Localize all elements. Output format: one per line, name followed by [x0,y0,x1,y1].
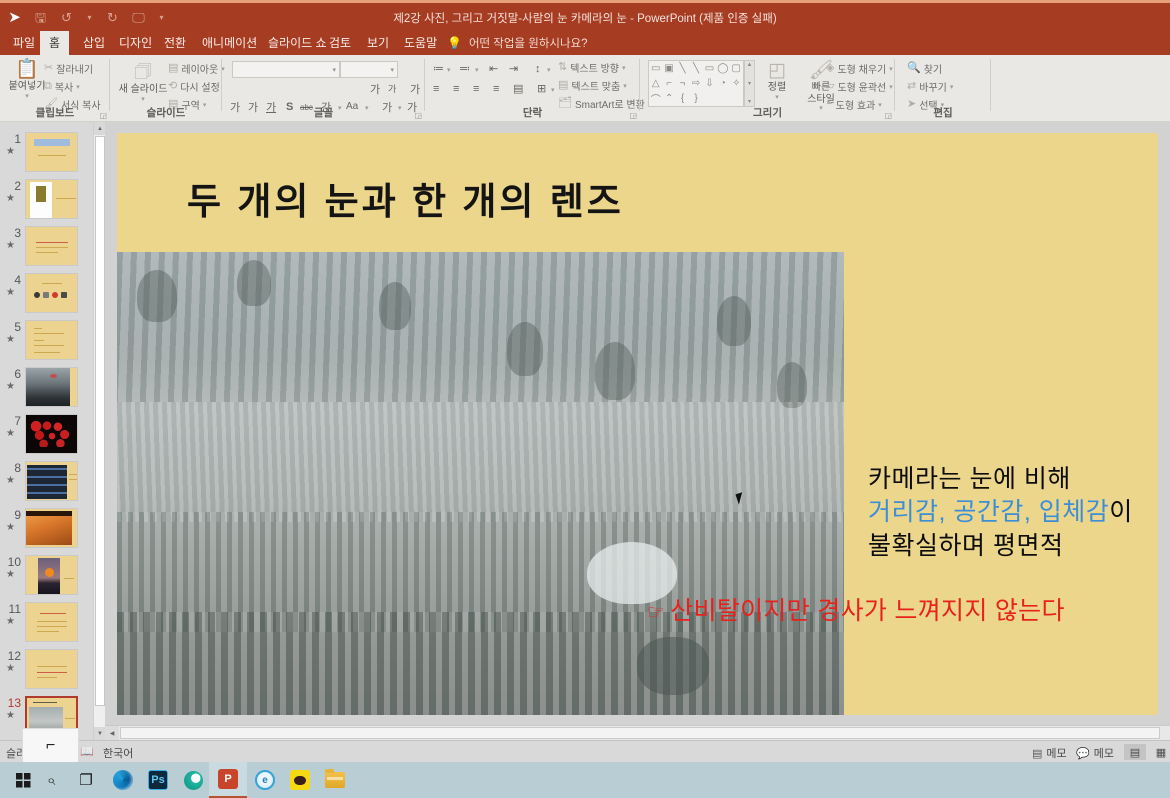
ribbon-group-editing: 🔍 찾기 ⇄ 바꾸기 ▾ ➤ 선택 ▾ 편집 [895,55,991,122]
align-right-button[interactable]: ≡ [473,81,479,96]
title-bar: ➤ 🖫 ↺ ▾ ↻ 🖵 ▾ 제2강 사진, 그리고 거짓말-사람의 눈 카메라의… [0,0,1170,31]
paragraph-dialog-launcher[interactable]: ◲ [629,111,637,120]
clipboard-dialog-launcher[interactable]: ◲ [99,111,107,120]
window-title: 제2강 사진, 그리고 거짓말-사람의 눈 카메라의 눈 - PowerPoin… [0,10,1170,26]
body-line-2-tail: 이 [1109,498,1133,526]
find-button[interactable]: 🔍 찾기 [907,61,942,76]
arrange-icon: ◰ [768,61,786,80]
font-dialog-launcher[interactable]: ◲ [414,111,422,120]
replace-button[interactable]: ⇄ 바꾸기 ▾ [907,79,953,94]
copy-icon: ⧉ [44,81,52,92]
notes-icon: ▤ [1032,747,1042,760]
reset-icon: ⟲ [168,81,177,92]
reset-button[interactable]: ⟲ 다시 설정 [168,79,220,94]
notes-button[interactable]: ▤ 메모 [1032,745,1067,761]
animation-star-icon: ★ [6,616,15,627]
shape-outline-icon: ▱ [826,81,834,92]
group-label-slides: 슬라이드 [110,105,222,120]
ribbon-group-font: ▾ ▾ 가 가 가 가 가 가 S abc 간 ▾ Aa ▾ 가 ▾ 가 글꼴 … [222,55,425,122]
ribbon-group-paragraph: ≔ ▾ ≕ ▾ ⇤ ⇥ ↕ ▾ ≡ ≡ ≡ ≡ ▤ ⊞ ▾ ⇅ 텍스트 방향 ▾… [425,55,640,122]
justify-button[interactable]: ≡ [493,81,499,96]
thumbnail-number: 4 [2,273,21,287]
tab-design[interactable]: 디자인 [110,31,161,55]
status-bar: 슬라이드 13/33 📖 한국어 ▤ 메모 💬 메모 ▤ ▦ [0,740,1170,762]
new-slide-icon: 🗇 [134,63,152,82]
align-left-button[interactable]: ≡ [433,81,439,96]
body-line-1: 카메라는 눈에 비해 [868,463,1158,496]
thumbnail-number: 13 [2,696,21,710]
group-label-drawing: 그리기 [640,105,895,120]
thumbnail-number: 7 [2,414,21,428]
shape-item[interactable]: △ [652,78,660,89]
thumbnail-image[interactable] [25,414,78,454]
thumbnail-image[interactable] [25,367,78,407]
thumbnail-image[interactable] [25,461,78,501]
thumbnail-number: 8 [2,461,21,475]
taskbar: ⌕ ❐ Ps P e [0,762,1170,798]
shape-item[interactable]: ▢ [732,63,741,74]
animation-star-icon: ★ [6,710,15,721]
app-teal-button[interactable] [174,762,212,798]
photoshop-icon: Ps [148,770,168,790]
shape-item[interactable]: ⌃ [665,93,673,104]
scrollbar-thumb[interactable] [95,136,105,706]
thumbnail-number: 1 [2,132,21,146]
shape-item[interactable]: ╲ [693,63,699,74]
distribute-button[interactable]: ▤ [513,81,523,96]
ribbon-tab-bar: 파일 홈 삽입 디자인 전환 애니메이션 슬라이드 쇼 검토 보기 도움말 💡 … [0,31,1170,55]
text-direction-button[interactable]: ⇅ 텍스트 방향 ▾ [558,60,626,75]
callout-label: 산비탈이지만 경사가 느껴지지 않는다 [670,597,1065,625]
comment-icon: 💬 [1076,747,1090,760]
edge-icon [113,770,133,790]
tab-home[interactable]: 홈 [40,31,69,55]
columns-button[interactable]: ⊞ [537,81,546,96]
tell-me-box[interactable]: 💡 어떤 작업을 원하시나요? [447,31,588,55]
thumbnail-image[interactable] [25,273,78,313]
internet-explorer-button[interactable]: e [246,762,284,798]
shape-outline-button[interactable]: ▱ 도형 윤곽선 ▾ [826,79,893,94]
search-icon: ⌕ [47,772,55,789]
group-label-clipboard: 클립보드 [0,105,110,120]
slide-sorter-button[interactable]: ▦ [1150,744,1170,760]
thumbnail-image[interactable] [25,132,78,172]
pointing-hand-icon: ☞ [647,602,665,624]
comments-button[interactable]: 💬 메모 [1076,745,1114,761]
thumbnail-image[interactable] [25,649,78,689]
slide-photo-snow-forest[interactable] [117,252,844,715]
scroll-down-icon[interactable]: ▼ [94,727,105,740]
font-size-input[interactable]: ▾ [340,61,398,78]
spellcheck-icon[interactable]: 📖 [80,745,94,758]
shape-item[interactable]: { [681,93,684,104]
slide-thumbnail-pane[interactable]: 1 ★ 2 ★ 3 ★ 4 [0,122,105,740]
body-line-2-blue: 거리감, 공간감, 입체감 [868,498,1109,526]
scroll-more-icon[interactable]: ▾ [748,80,751,87]
shape-item[interactable]: ⇨ [692,78,700,89]
search-button[interactable]: ⌕ [32,762,70,798]
shape-fill-button[interactable]: ◈ 도형 채우기 ▾ [826,61,893,76]
ribbon: 📋 붙여넣기 ▾ ✂ 잘라내기 ⧉ 복사 ▾ 🖌 서식 복사 클립보드 ◲ [0,55,1170,122]
scroll-down-icon[interactable]: ▾ [748,98,751,105]
increase-indent-button[interactable]: ⇥ [509,61,518,76]
animation-star-icon: ★ [6,193,15,204]
thumbnail-number: 6 [2,367,21,381]
clear-formatting-button[interactable]: 가 [410,81,420,96]
slide-callout-text[interactable]: ☞산비탈이지만 경사가 느껴지지 않는다 [647,591,1147,627]
animation-star-icon: ★ [6,240,15,251]
decrease-indent-button[interactable]: ⇤ [489,61,498,76]
ribbon-group-slides: 🗇 새 슬라이드 ▾ ▤ 레이아웃 ▾ ⟲ 다시 설정 ▤ 구역 ▾ 슬라이드 [110,55,222,122]
animation-star-icon: ★ [6,146,15,157]
drawing-dialog-launcher[interactable]: ◲ [884,111,892,120]
thumbnail-number: 10 [2,555,21,569]
teal-circle-icon [184,771,203,790]
group-separator [990,59,991,111]
layout-button[interactable]: ▤ 레이아웃 ▾ [168,61,225,76]
tab-view[interactable]: 보기 [358,31,398,55]
tab-review[interactable]: 검토 [320,31,360,55]
powerpoint-button[interactable]: P [209,762,247,798]
thumbnail-image[interactable] [25,602,78,642]
file-explorer-button[interactable] [316,762,354,798]
tell-me-placeholder: 어떤 작업을 원하시나요? [469,35,588,51]
ribbon-group-clipboard: 📋 붙여넣기 ▾ ✂ 잘라내기 ⧉ 복사 ▾ 🖌 서식 복사 클립보드 ◲ [0,55,110,122]
status-tooltip: ⌐ [22,728,79,764]
scroll-left-icon[interactable]: ◀ [105,726,119,740]
shape-item[interactable]: ▭ [651,63,660,74]
tab-insert[interactable]: 삽입 [74,31,114,55]
shape-item[interactable]: ⌐ [666,78,672,89]
animation-star-icon: ★ [6,522,15,533]
tab-transitions[interactable]: 전환 [155,31,195,55]
grow-font-button[interactable]: 가 [370,81,380,96]
shapes-scrollbar[interactable]: ▲ ▾ ▾ [744,60,755,107]
thumbnail-image[interactable] [25,320,78,360]
slide-body-text[interactable]: 카메라는 눈에 비해 거리감, 공간감, 입체감이 불확실하며 평면적 [868,463,1158,563]
thumbnail-number: 9 [2,508,21,522]
normal-view-button[interactable]: ▤ [1124,744,1146,760]
ribbon-group-drawing: ▭ ▣ ╲ ╲ ▭ ◯ ▢ △ ⌐ ¬ ⇨ ⇩ ◔ ✧ ⌒ ⌃ { } ▲ [640,55,895,122]
scroll-up-icon[interactable]: ▲ [94,122,105,135]
new-slide-button[interactable]: 🗇 새 슬라이드 ▾ [114,63,172,104]
group-label-font: 글꼴 [222,105,425,120]
text-direction-icon: ⇅ [558,62,567,73]
shape-item[interactable]: ▭ [705,63,714,74]
shape-item[interactable]: ◔ [720,78,726,89]
thumbnail-number: 12 [2,649,21,663]
kakaotalk-icon [290,770,310,790]
slide-title[interactable]: 두 개의 눈과 한 개의 렌즈 [187,171,967,225]
arrange-button[interactable]: ◰ 정렬 ▾ [758,61,796,102]
thumbnail-number: 3 [2,226,21,240]
thumbnail-number: 2 [2,179,21,193]
layout-icon: ▤ [168,63,178,74]
animation-star-icon: ★ [6,569,15,580]
thumbnail-scrollbar[interactable]: ▲ ▼ [93,122,105,740]
shape-item[interactable]: ⌒ [651,91,661,106]
scrollbar-thumb[interactable] [120,727,1160,739]
tab-help[interactable]: 도움말 [395,31,446,55]
line-spacing-button[interactable]: ↕ [535,61,541,76]
shape-item[interactable]: } [694,93,697,104]
shrink-font-button[interactable]: 가 [388,81,396,96]
replace-icon: ⇄ [907,81,916,92]
animation-star-icon: ★ [6,287,15,298]
align-text-icon: ▤ [558,80,568,91]
slide-horizontal-scrollbar[interactable]: ◀ [105,725,1170,740]
numbering-button[interactable]: ≕ [459,61,470,76]
font-name-input[interactable]: ▾ [232,61,340,78]
thumbnail-image[interactable] [25,508,78,548]
photoshop-button[interactable]: Ps [139,762,177,798]
task-view-button[interactable]: ❐ [67,762,105,798]
bullets-button[interactable]: ≔ [433,61,444,76]
scroll-up-icon[interactable]: ▲ [747,62,753,68]
shapes-gallery[interactable]: ▭ ▣ ╲ ╲ ▭ ◯ ▢ △ ⌐ ¬ ⇨ ⇩ ◔ ✧ ⌒ ⌃ { } [648,60,744,107]
shape-item[interactable]: ⇩ [705,78,713,89]
folder-icon [325,772,345,788]
kakaotalk-button[interactable] [281,762,319,798]
scissors-icon: ✂ [44,63,53,74]
thumbnail-number: 11 [2,602,21,616]
shape-item[interactable]: ▣ [664,63,673,74]
group-label-editing: 편집 [895,105,991,120]
shape-item[interactable]: ◯ [717,63,728,74]
animation-star-icon: ★ [6,334,15,345]
align-text-button[interactable]: ▤ 텍스트 맞춤 ▾ [558,78,627,93]
language-indicator[interactable]: 한국어 [103,745,133,761]
shape-item[interactable]: ╲ [680,63,686,74]
task-view-icon: ❐ [79,771,92,789]
group-label-paragraph: 단락 [425,105,640,120]
clipboard-icon: 📋 [15,60,39,79]
animation-star-icon: ★ [6,475,15,486]
thumbnail-image[interactable] [25,179,78,219]
cut-button[interactable]: ✂ 잘라내기 [44,61,93,76]
shape-fill-icon: ◈ [826,63,834,74]
shape-item[interactable]: ✧ [732,78,740,89]
animation-star-icon: ★ [6,663,15,674]
thumbnail-number: 5 [2,320,21,334]
animation-star-icon: ★ [6,381,15,392]
animation-star-icon: ★ [6,428,15,439]
powerpoint-icon: P [218,769,238,789]
slide-editing-area[interactable]: 두 개의 눈과 한 개의 렌즈 카메라는 눈에 비해 거리감, 공간감 [105,122,1170,740]
internet-explorer-icon: e [255,770,275,790]
search-icon: 🔍 [907,63,921,74]
body-line-3: 불확실하며 평면적 [868,530,1158,563]
edge-button[interactable] [104,762,142,798]
windows-icon [16,773,31,788]
lightbulb-icon: 💡 [447,36,462,50]
align-center-button[interactable]: ≡ [453,81,459,96]
thumbnail-image[interactable] [25,226,78,266]
copy-button[interactable]: ⧉ 복사 ▾ [44,79,80,94]
shape-item[interactable]: ¬ [680,78,686,89]
thumbnail-image[interactable] [25,555,78,595]
tab-file[interactable]: 파일 [4,31,44,55]
current-slide[interactable]: 두 개의 눈과 한 개의 렌즈 카메라는 눈에 비해 거리감, 공간감 [117,133,1158,715]
tab-animations[interactable]: 애니메이션 [193,31,266,55]
body-line-2: 거리감, 공간감, 입체감이 [868,496,1158,529]
